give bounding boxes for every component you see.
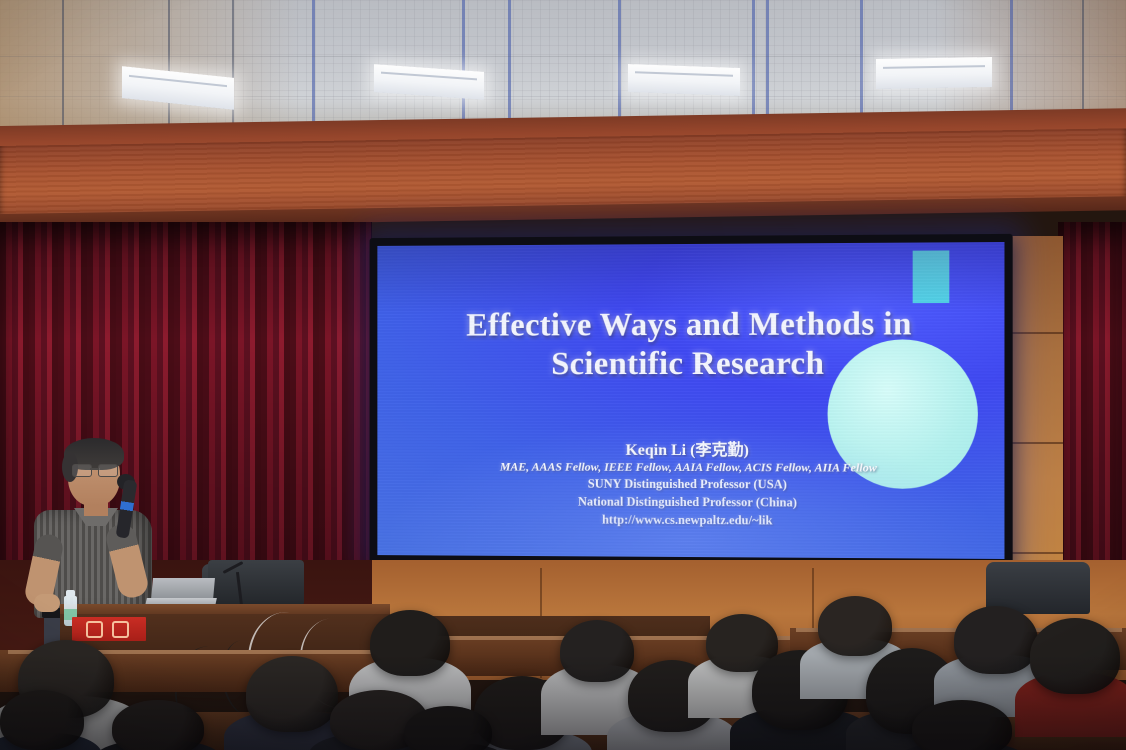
presenter-glasses <box>72 464 118 475</box>
slide-subtitle-block: MAE, AAAS Fellow, IEEE Fellow, AAIA Fell… <box>377 458 1004 531</box>
ceiling-seam <box>232 0 234 136</box>
lecture-hall-photo: Effective Ways and Methods in Scientific… <box>0 0 1126 750</box>
audience-member-head <box>912 700 1012 750</box>
audience-member-head <box>404 706 492 750</box>
slide-decoration-rectangle <box>913 250 950 303</box>
ceiling-seam <box>62 0 64 136</box>
audience-member-head <box>112 700 204 750</box>
slide-title-line2: Scientific Research <box>377 344 1004 384</box>
projection-screen-frame: Effective Ways and Methods in Scientific… <box>370 234 1013 568</box>
audience-member-head <box>560 620 634 682</box>
ceiling-seam <box>462 0 465 136</box>
slide-title: Effective Ways and Methods in Scientific… <box>377 305 1004 384</box>
ceiling-light-panel <box>628 64 740 96</box>
audience-member-head <box>370 610 450 676</box>
slide-url: http://www.cs.newpaltz.edu/~lik <box>377 510 1004 531</box>
audience-member-head <box>954 606 1038 674</box>
presentation-slide: Effective Ways and Methods in Scientific… <box>377 242 1004 559</box>
slide-title-line1: Effective Ways and Methods in <box>377 305 1004 346</box>
desk-monitor <box>208 560 304 606</box>
laptop-screen <box>151 578 215 600</box>
ceiling-warm-gradient-left <box>0 0 300 136</box>
slide-credentials: MAE, AAAS Fellow, IEEE Fellow, AAIA Fell… <box>377 458 1004 477</box>
audience-member-head <box>818 596 892 656</box>
ceiling-seam <box>312 0 315 136</box>
slide-affiliation-usa: SUNY Distinguished Professor (USA) <box>377 475 1004 495</box>
audience-member-head <box>246 656 338 732</box>
presenter-left-hand <box>34 594 60 612</box>
audience-member-head <box>1030 618 1120 694</box>
ceiling-seam <box>508 0 511 136</box>
slide-author-name: Keqin Li (李克勤) <box>377 436 1004 461</box>
ceiling-seam <box>168 0 170 136</box>
ceiling-light-panel <box>876 57 992 89</box>
audience-member-head <box>0 690 84 750</box>
name-placard <box>72 617 146 641</box>
